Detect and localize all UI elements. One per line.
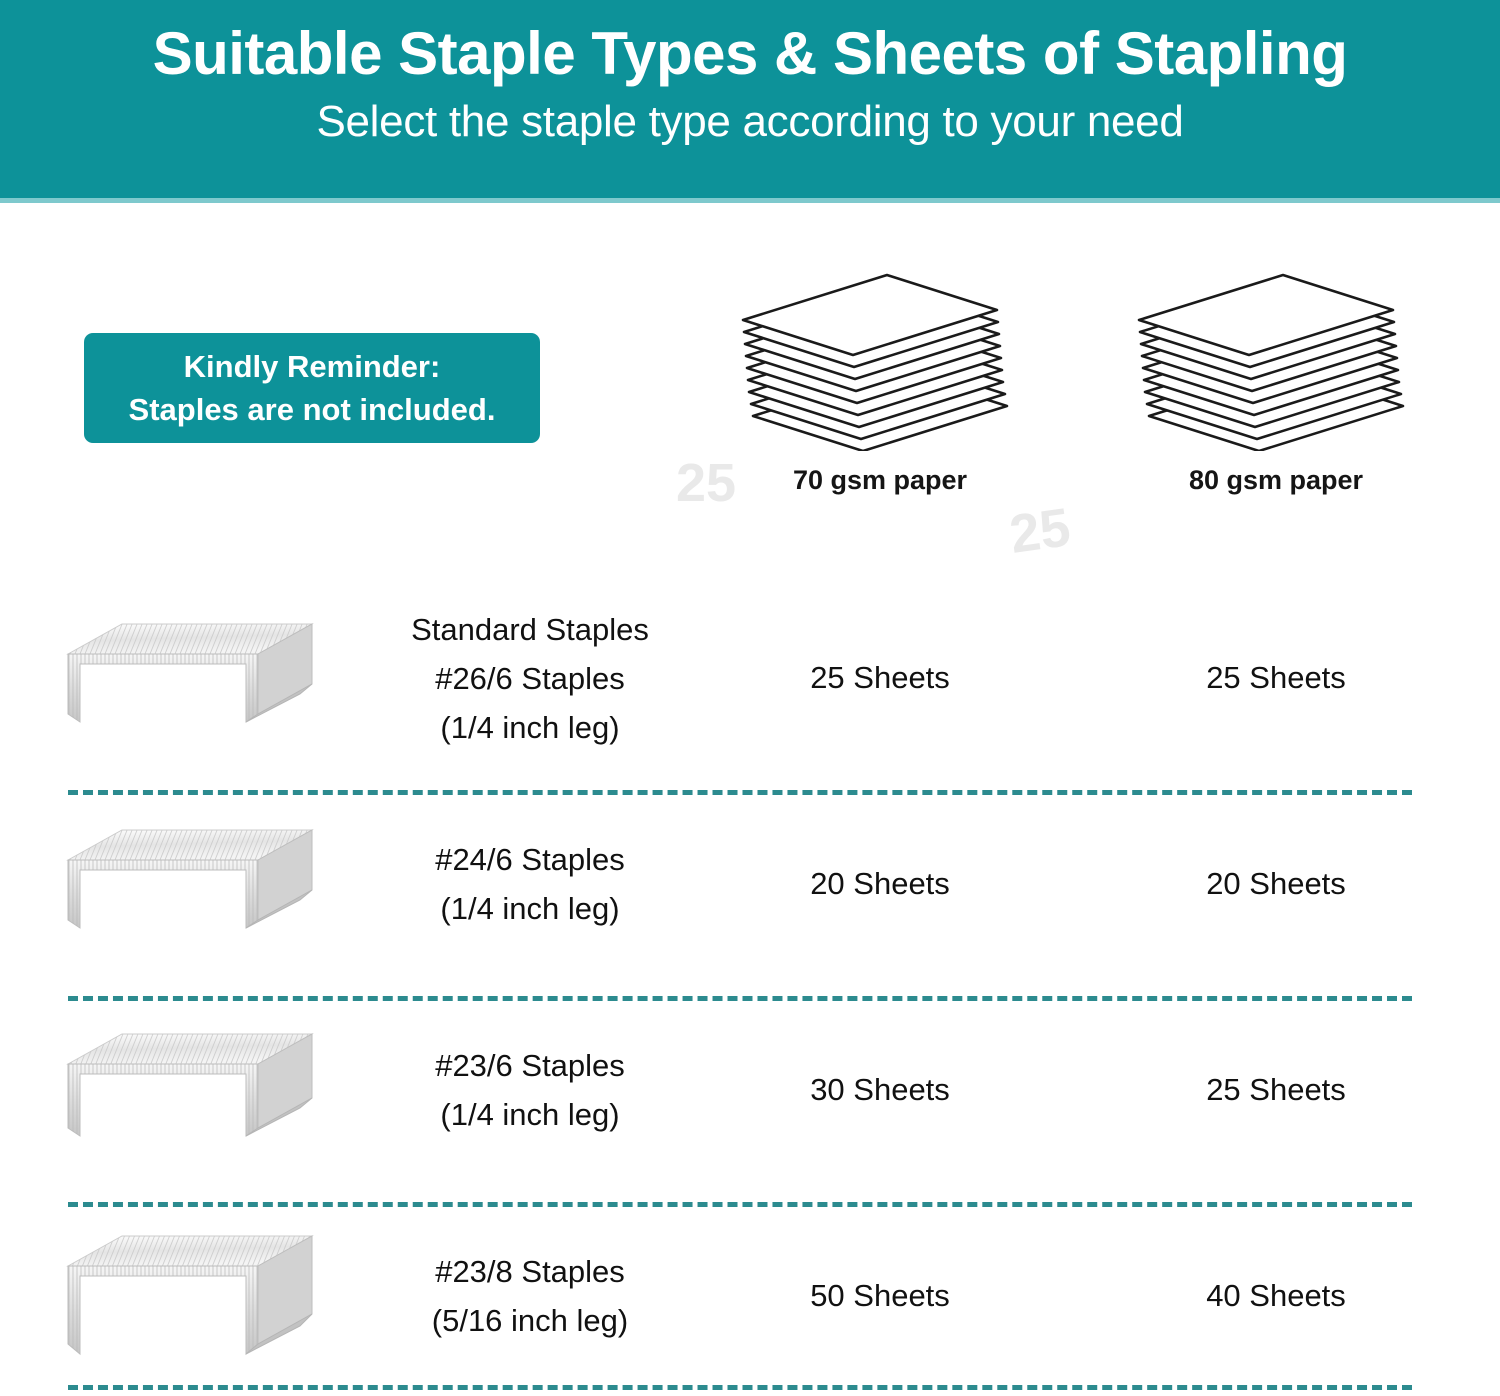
staple-image-cell [60,808,320,958]
staple-description-cell: #23/6 Staples (1/4 inch leg) [330,990,730,1190]
sheets-value-70gsm: 25 Sheets [810,660,950,696]
staple-strip-icon [60,808,320,958]
staple-strip-icon [60,1014,320,1164]
sheets-value-80gsm: 20 Sheets [1206,866,1346,902]
staple-leg-length: (1/4 inch leg) [440,703,619,752]
staple-image-cell [60,1014,320,1164]
staple-description-cell: Standard Staples #26/6 Staples (1/4 inch… [330,578,730,778]
staple-description-cell: #24/6 Staples (1/4 inch leg) [330,784,730,984]
table-row: #24/6 Staples (1/4 inch leg) 20 Sheets 2… [0,784,1500,984]
staple-strip-icon [60,1220,320,1380]
staple-description-cell: #23/8 Staples (5/16 inch leg) [330,1196,730,1396]
staple-image-cell [60,602,320,752]
staple-category: Standard Staples [411,605,649,654]
staple-name: #23/6 Staples [435,1041,625,1090]
paper-stack-icon [735,266,1025,451]
paper-stack-column-70gsm: 70 gsm paper [730,266,1030,496]
page-title: Suitable Staple Types & Sheets of Stapli… [0,16,1500,92]
sheets-cell-70gsm: 20 Sheets [730,784,1030,984]
staple-name: #26/6 Staples [435,654,625,703]
staple-leg-length: (5/16 inch leg) [432,1296,628,1345]
paper-stack-icon [1131,266,1421,451]
sheets-value-80gsm: 40 Sheets [1206,1278,1346,1314]
sheets-value-70gsm: 20 Sheets [810,866,950,902]
staple-image-cell [60,1220,320,1370]
sheets-cell-70gsm: 25 Sheets [730,578,1030,778]
sheets-value-80gsm: 25 Sheets [1206,1072,1346,1108]
sheets-cell-80gsm: 25 Sheets [1126,990,1426,1190]
kindly-reminder-badge: Kindly Reminder: Staples are not include… [84,333,540,443]
sheets-cell-70gsm: 30 Sheets [730,990,1030,1190]
table-row: #23/6 Staples (1/4 inch leg) 30 Sheets 2… [0,990,1500,1190]
watermark-ghost-b: 25 [1006,496,1074,566]
sheets-value-80gsm: 25 Sheets [1206,660,1346,696]
row-divider [68,1385,1412,1390]
paper-stack-label-80gsm: 80 gsm paper [1126,465,1426,496]
header-underline [0,198,1500,203]
table-row: #23/8 Staples (5/16 inch leg) 50 Sheets … [0,1196,1500,1396]
table-row: Standard Staples #26/6 Staples (1/4 inch… [0,578,1500,778]
staple-name: #24/6 Staples [435,835,625,884]
reminder-line-1: Kindly Reminder: [184,345,441,388]
staple-strip-icon [60,602,320,752]
staple-leg-length: (1/4 inch leg) [440,1090,619,1139]
staple-leg-length: (1/4 inch leg) [440,884,619,933]
sheets-cell-80gsm: 25 Sheets [1126,578,1426,778]
paper-stack-column-80gsm: 80 gsm paper [1126,266,1426,496]
header-banner: Suitable Staple Types & Sheets of Stapli… [0,0,1500,198]
sheets-value-70gsm: 50 Sheets [810,1278,950,1314]
sheets-cell-70gsm: 50 Sheets [730,1196,1030,1396]
sheets-cell-80gsm: 40 Sheets [1126,1196,1426,1396]
paper-stack-label-70gsm: 70 gsm paper [730,465,1030,496]
sheets-value-70gsm: 30 Sheets [810,1072,950,1108]
sheets-cell-80gsm: 20 Sheets [1126,784,1426,984]
reminder-line-2: Staples are not included. [129,388,496,431]
watermark-ghost-a: 25 [676,452,736,514]
page-subtitle: Select the staple type according to your… [0,92,1500,152]
staple-name: #23/8 Staples [435,1247,625,1296]
